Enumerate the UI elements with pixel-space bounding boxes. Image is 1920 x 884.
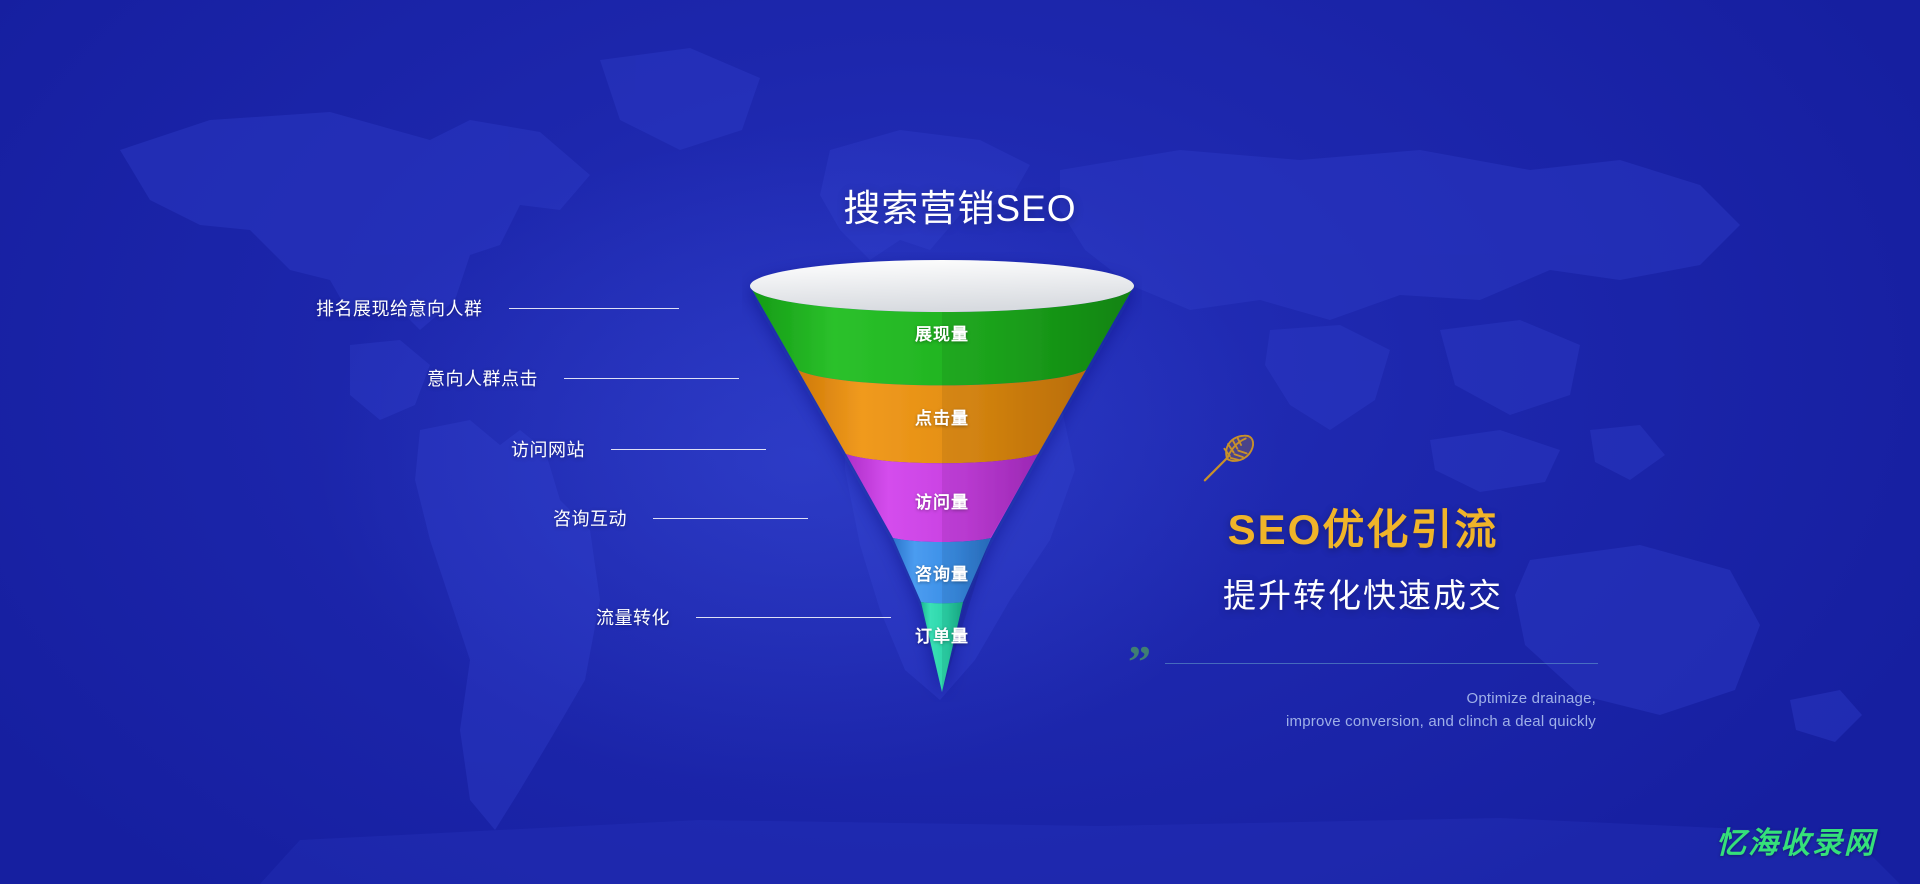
leader-label-1: 排名展现给意向人群 (316, 295, 483, 321)
leader-row-3: 访问网站 (511, 436, 766, 462)
leader-label-2: 意向人群点击 (427, 365, 538, 391)
seo-promo-panel: SEO优化引流 提升转化快速成交 ” Optimize drainage, im… (1128, 432, 1598, 733)
poster-canvas: 搜索营销SEO 排名展现给意向人群 意向人群点击 访问网站 咨询互动 流量转化 (0, 0, 1920, 884)
funnel-top-cap (750, 260, 1134, 312)
quote-mark-icon: ” (1128, 649, 1151, 674)
leader-row-2: 意向人群点击 (427, 365, 739, 391)
feather-icon (1198, 432, 1260, 484)
english-subtitle-line-1: Optimize drainage, (1128, 688, 1596, 711)
seo-funnel-chart: 展现量 点击量 访问量 咨询量 订单量 (742, 252, 1142, 702)
divider-line (1165, 663, 1598, 664)
leader-label-3: 访问网站 (511, 436, 585, 462)
promo-headline-primary: SEO优化引流 (1128, 496, 1598, 557)
leader-row-1: 排名展现给意向人群 (316, 295, 679, 321)
leader-label-4: 咨询互动 (553, 505, 627, 531)
page-title: 搜索营销SEO (0, 178, 1920, 232)
leader-label-5: 流量转化 (596, 604, 670, 630)
site-watermark: 忆海收录网 (1716, 818, 1876, 862)
promo-headline-secondary: 提升转化快速成交 (1128, 569, 1598, 617)
english-subtitle: Optimize drainage, improve conversion, a… (1128, 688, 1598, 733)
quote-divider-row: ” (1128, 649, 1598, 674)
leader-line-1 (509, 308, 679, 309)
english-subtitle-line-2: improve conversion, and clinch a deal qu… (1128, 711, 1596, 734)
leader-line-2 (564, 378, 739, 379)
